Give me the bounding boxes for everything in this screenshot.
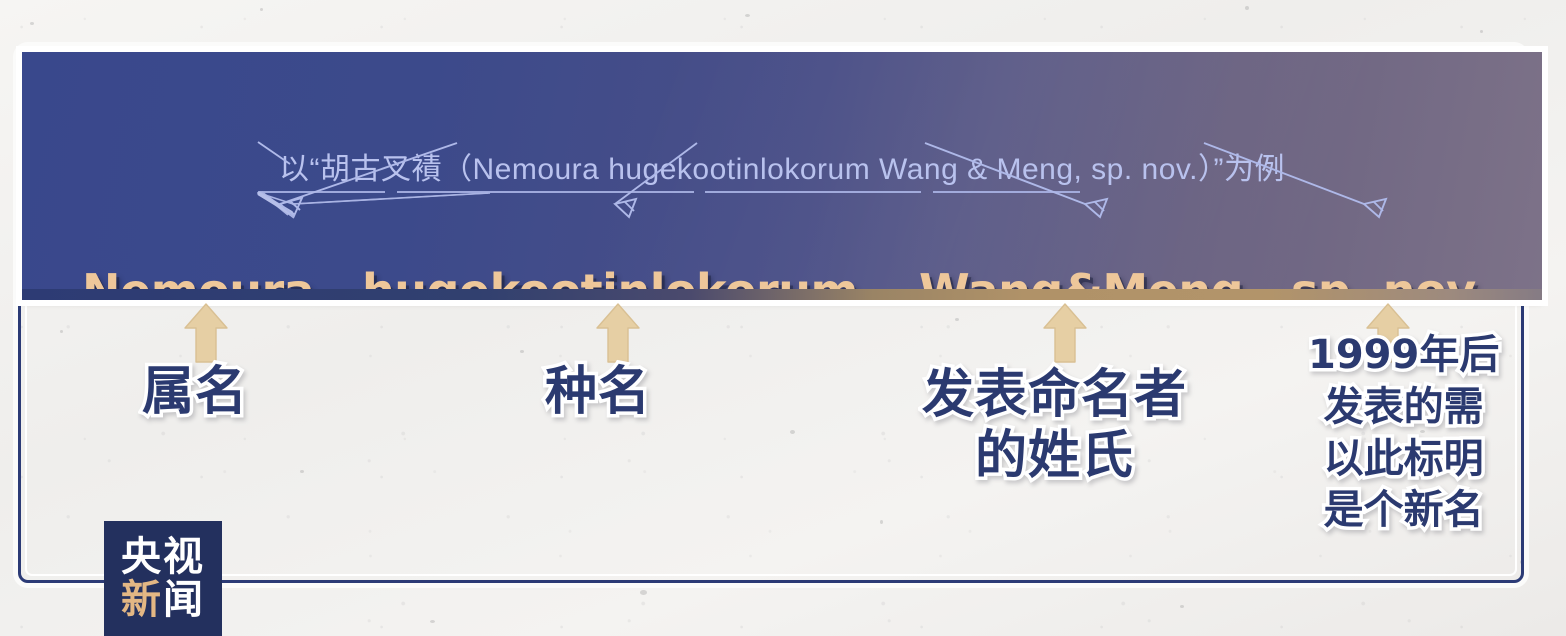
logo-line-2-gold: 新 — [121, 577, 163, 623]
label-status-line-2: 发表的需 — [1308, 385, 1499, 430]
logo-line-2-white: 闻 — [163, 577, 205, 623]
paper-speck — [30, 22, 34, 25]
label-authors-line-2: 的姓氏 — [922, 429, 1187, 484]
background-canvas: 以“胡古叉襀（Nemoura hugekootinlokorum Wang & … — [0, 0, 1566, 636]
label-authors: 发表命名者 的姓氏 — [922, 368, 1187, 484]
label-authors-line-1: 发表命名者 — [922, 368, 1187, 423]
label-genus: 属名 — [142, 365, 248, 420]
label-species: 种名 — [545, 365, 651, 420]
up-arrow-genus — [183, 302, 229, 364]
paper-speck — [1180, 605, 1184, 608]
label-status-line-4: 是个新名 — [1308, 488, 1499, 533]
label-status-line-1: 1999年后 — [1308, 333, 1499, 378]
label-genus-line-1: 属名 — [142, 365, 248, 420]
paper-speck — [1245, 6, 1249, 10]
paper-speck — [260, 8, 263, 11]
label-status: 1999年后 发表的需 以此标明 是个新名 — [1308, 333, 1499, 533]
label-species-line-1: 种名 — [545, 365, 651, 420]
up-arrow-species — [595, 302, 641, 364]
header-banner: 以“胡古叉襀（Nemoura hugekootinlokorum Wang & … — [22, 52, 1542, 300]
logo-line-2: 新闻 — [121, 579, 205, 621]
paper-speck — [745, 14, 750, 17]
up-arrow-authors — [1042, 302, 1088, 364]
cctv-news-logo: 央视 新闻 — [104, 521, 222, 636]
paper-speck — [1480, 30, 1483, 33]
logo-line-1: 央视 — [121, 536, 205, 578]
paper-speck — [640, 590, 647, 595]
leader-line-group — [22, 52, 1542, 300]
paper-speck — [430, 620, 435, 623]
banner-gold-strip — [22, 289, 1542, 300]
label-status-line-3: 以此标明 — [1308, 437, 1499, 482]
